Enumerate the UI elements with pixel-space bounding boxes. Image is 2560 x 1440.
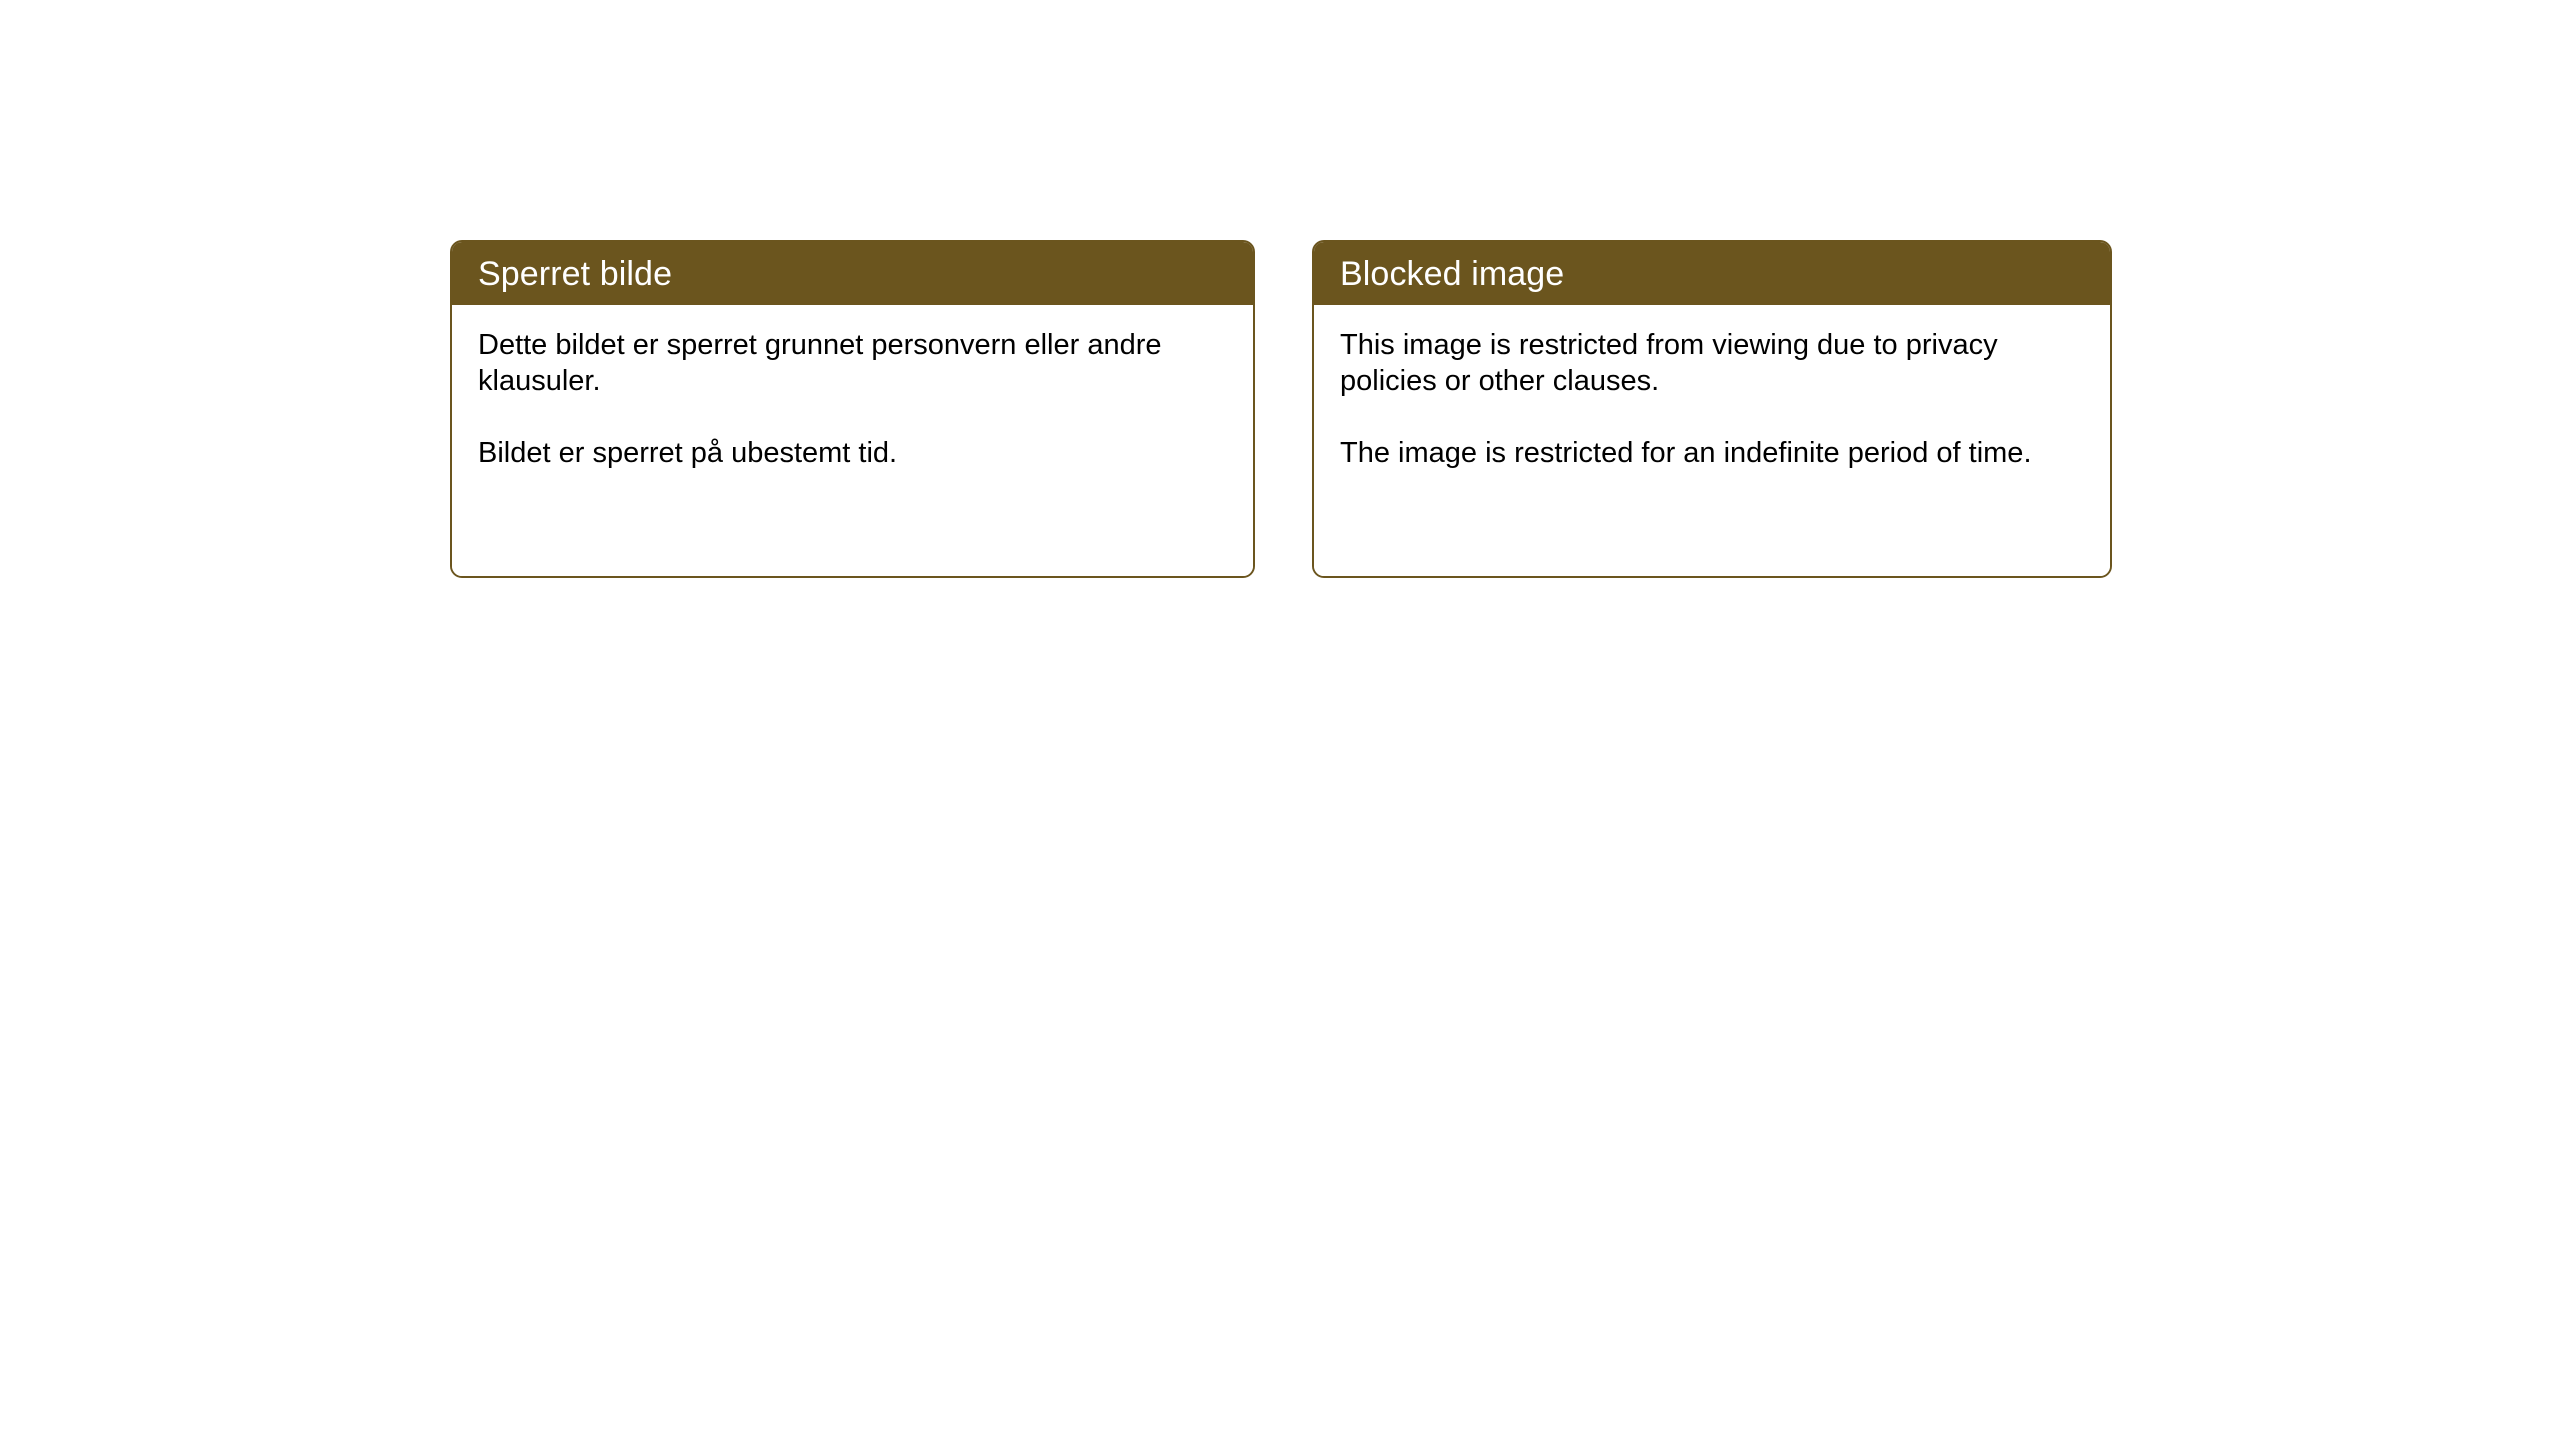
card-header-english: Blocked image bbox=[1314, 242, 2110, 305]
card-title-norwegian: Sperret bilde bbox=[478, 257, 672, 291]
card-body-english: This image is restricted from viewing du… bbox=[1314, 305, 2110, 576]
blocked-image-notice-area: Sperret bilde Dette bildet er sperret gr… bbox=[450, 240, 2112, 578]
card-body-norwegian: Dette bildet er sperret grunnet personve… bbox=[452, 305, 1253, 576]
blocked-image-card-norwegian: Sperret bilde Dette bildet er sperret gr… bbox=[450, 240, 1255, 578]
card-paragraph-privacy-norwegian: Dette bildet er sperret grunnet personve… bbox=[478, 327, 1229, 399]
card-title-english: Blocked image bbox=[1340, 257, 1564, 291]
card-paragraph-duration-norwegian: Bildet er sperret på ubestemt tid. bbox=[478, 435, 1229, 471]
card-header-norwegian: Sperret bilde bbox=[452, 242, 1253, 305]
blocked-image-card-english: Blocked image This image is restricted f… bbox=[1312, 240, 2112, 578]
card-paragraph-privacy-english: This image is restricted from viewing du… bbox=[1340, 327, 2086, 399]
card-paragraph-duration-english: The image is restricted for an indefinit… bbox=[1340, 435, 2086, 471]
